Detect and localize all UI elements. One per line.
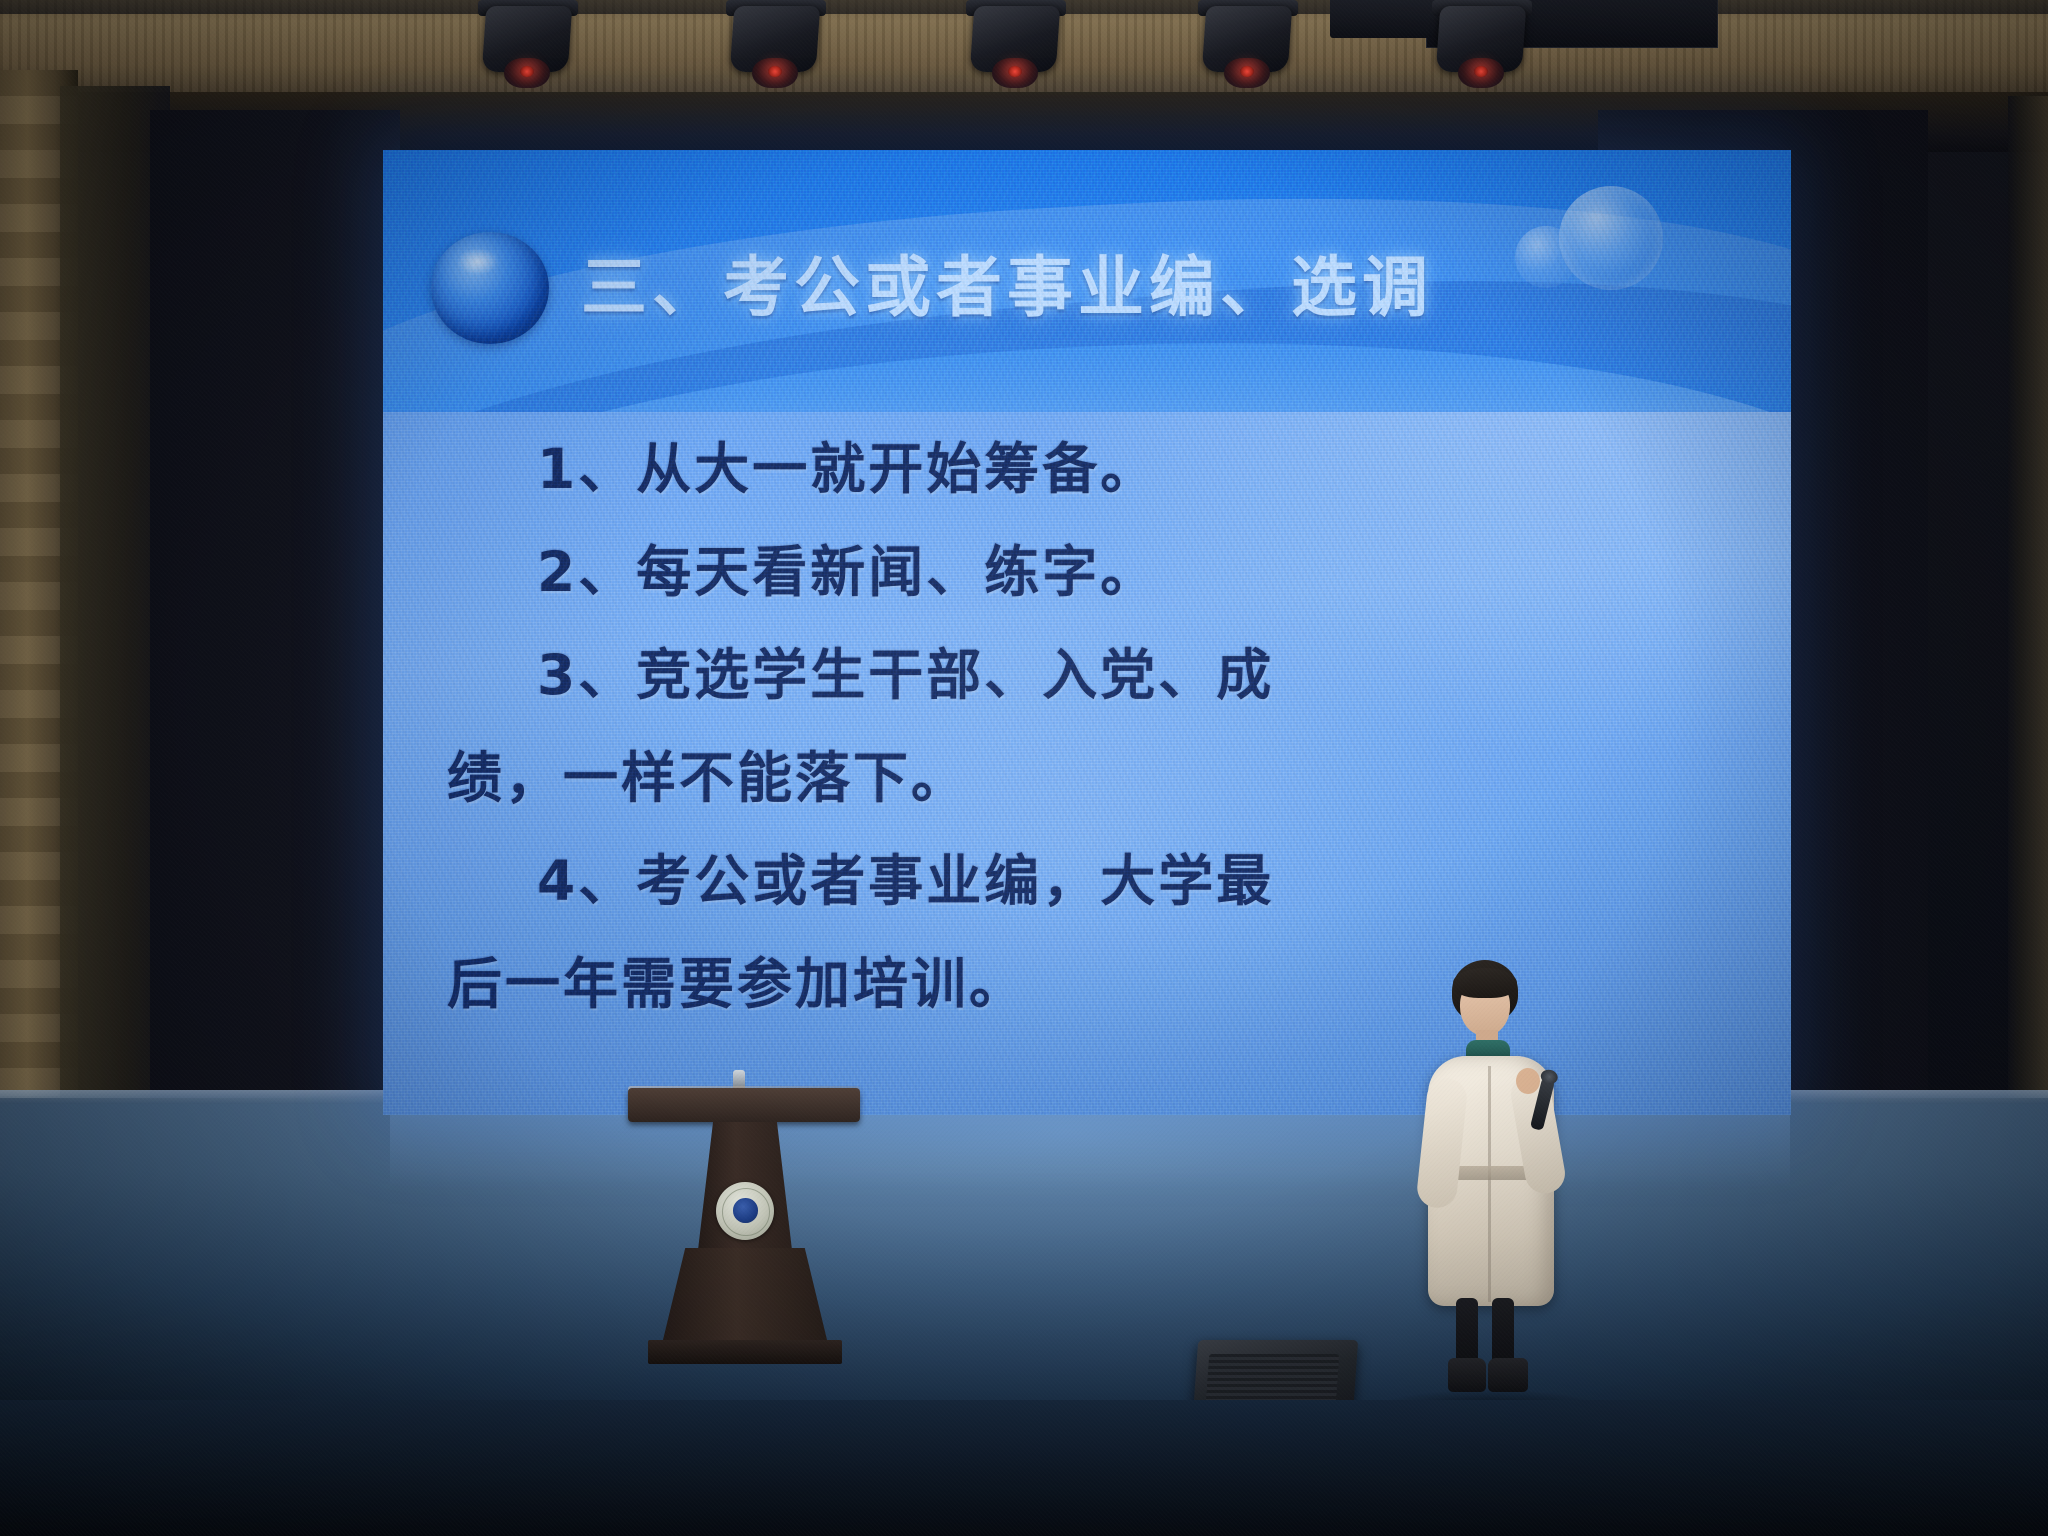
lectern xyxy=(620,1070,870,1380)
left-stage-mask xyxy=(150,110,400,1110)
lectern-top xyxy=(628,1088,860,1122)
right-wood-wall xyxy=(2008,96,2048,1216)
lectern-base xyxy=(662,1248,828,1344)
par-can-spotlight-icon xyxy=(1424,0,1542,100)
par-can-spotlight-icon xyxy=(470,0,588,100)
presenter-with-microphone xyxy=(1400,960,1580,1400)
presenter-right-boot xyxy=(1488,1358,1528,1392)
par-can-spotlight-icon xyxy=(718,0,836,100)
lectern-foot xyxy=(648,1340,842,1364)
school-emblem-ring xyxy=(722,1188,770,1236)
par-can-spotlight-icon xyxy=(958,0,1076,100)
presenter-coat-seam xyxy=(1488,1066,1491,1302)
stage-photo: 三、考公或者事业编、选调 1、从大一就开始筹备。 2、每天看新闻、练字。 3、竞… xyxy=(0,0,2048,1536)
presenter-left-boot xyxy=(1448,1358,1486,1392)
presenter-fringe xyxy=(1453,968,1517,998)
presenter-hand xyxy=(1516,1068,1540,1094)
par-can-spotlight-icon xyxy=(1190,0,1308,100)
stage-apron xyxy=(0,1400,2048,1536)
